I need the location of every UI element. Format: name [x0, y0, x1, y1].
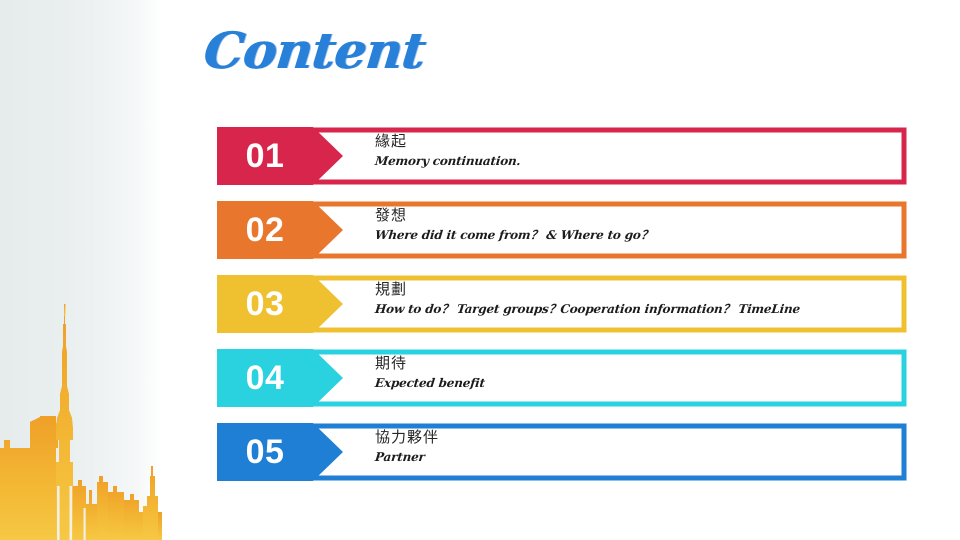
item-subtitle: Partner: [374, 450, 896, 466]
list-item[interactable]: 02 發想 Where did it come from？ & Where to…: [217, 201, 907, 259]
item-text-block: 緣起 Memory continuation.: [375, 131, 895, 183]
step-number-arrow: 04: [217, 349, 357, 407]
step-number-arrow: 03: [217, 275, 357, 333]
step-number: 04: [217, 349, 313, 407]
step-number: 01: [217, 127, 313, 185]
item-text-block: 協力夥伴 Partner: [375, 427, 895, 479]
item-subtitle: How to do？ Target groups？Cooperation inf…: [374, 302, 896, 318]
item-heading: 協力夥伴: [375, 427, 895, 447]
step-number-arrow: 01: [217, 127, 357, 185]
item-heading: 緣起: [375, 131, 895, 151]
step-number: 03: [217, 275, 313, 333]
step-number-arrow: 02: [217, 201, 357, 259]
item-text-block: 規劃 How to do？ Target groups？Cooperation …: [375, 279, 895, 331]
list-item[interactable]: 01 緣起 Memory continuation.: [217, 127, 907, 185]
item-heading: 規劃: [375, 279, 895, 299]
item-heading: 發想: [375, 205, 895, 225]
item-heading: 期待: [375, 353, 895, 373]
step-number: 05: [217, 423, 313, 481]
content-list: 01 緣起 Memory continuation. 02 發想: [0, 0, 960, 540]
step-number: 02: [217, 201, 313, 259]
list-item[interactable]: 03 規劃 How to do？ Target groups？Cooperati…: [217, 275, 907, 333]
step-number-arrow: 05: [217, 423, 357, 481]
list-item[interactable]: 04 期待 Expected benefit: [217, 349, 907, 407]
item-text-block: 期待 Expected benefit: [375, 353, 895, 405]
item-subtitle: Memory continuation.: [374, 154, 896, 170]
item-subtitle: Where did it come from？ & Where to go？: [374, 228, 896, 244]
slide-canvas: Content 01 緣起 Memory continuation.: [0, 0, 960, 540]
item-subtitle: Expected benefit: [374, 376, 896, 392]
list-item[interactable]: 05 協力夥伴 Partner: [217, 423, 907, 481]
item-text-block: 發想 Where did it come from？ & Where to go…: [375, 205, 895, 257]
